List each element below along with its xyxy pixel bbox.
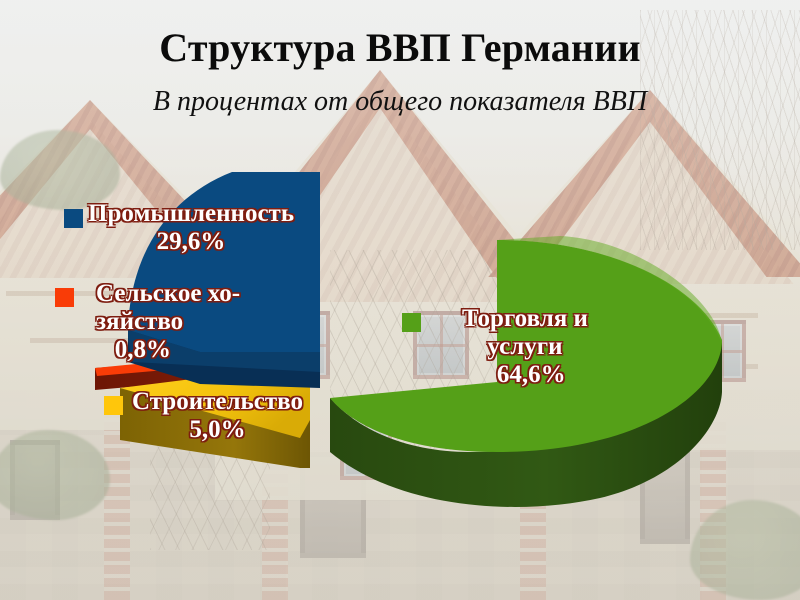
slice-label-trade: Торговля и услуги 64,6%: [462, 305, 588, 389]
slide: Структура ВВП Германии В процентах от об…: [0, 0, 800, 600]
slice-label-agriculture: Сельское хо- зяйство 0,8%: [96, 280, 240, 364]
slice-label-construction: Строительство 5,0%: [132, 388, 303, 444]
slice-label-industry: Промышленность 29,6%: [88, 200, 294, 256]
legend-swatch-agriculture[interactable]: [55, 288, 74, 307]
legend-swatch-industry[interactable]: [64, 209, 83, 228]
legend-swatch-trade[interactable]: [402, 313, 421, 332]
legend-swatch-construction[interactable]: [104, 396, 123, 415]
